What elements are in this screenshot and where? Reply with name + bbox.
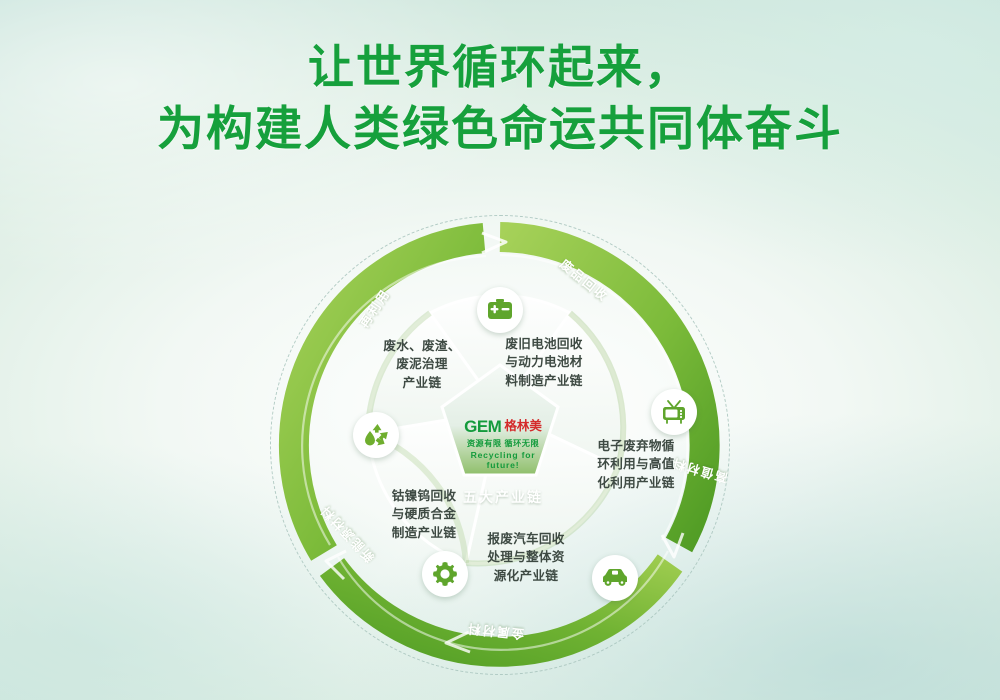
car-icon-badge [592, 555, 638, 601]
logo-slogan-cn: 资源有限 循环无限 [454, 437, 552, 449]
page-title: 让世界循环起来， 为构建人类绿色命运共同体奋斗 [0, 38, 1000, 159]
logo-primary-line: GEM 格林美 [454, 418, 552, 435]
recycle-drop-icon [362, 422, 390, 448]
logo-slogan-en: Recycling for future! [454, 450, 552, 470]
car-icon [601, 568, 629, 588]
battery-icon-badge [477, 287, 523, 333]
segment-text-electronic-waste: 电子废弃物循 环利用与高值 化利用产业链 [588, 437, 684, 492]
circular-diagram: 废品回收 再利用 高值材料 金属材料 新能源材料 废旧电池回收 与动力电池材 料… [270, 215, 730, 675]
headline-line-1: 让世界循环起来， [0, 38, 1000, 98]
tv-icon-badge [651, 389, 697, 435]
segment-text-scrapped-vehicle: 报废汽车回收 处理与整体资 源化产业链 [476, 530, 576, 585]
gear-icon [432, 561, 458, 587]
recycle-drop-icon-badge [353, 412, 399, 458]
gear-icon-badge [422, 551, 468, 597]
tv-icon [661, 399, 687, 425]
center-label: 五大产业链 [454, 487, 552, 507]
center-logo: GEM 格林美 资源有限 循环无限 Recycling for future! … [454, 418, 552, 507]
logo-brand-cn: 格林美 [504, 420, 542, 433]
segment-text-battery: 废旧电池回收 与动力电池材 料制造产业链 [492, 335, 596, 390]
segment-text-wastewater: 废水、废渣、 废泥治理 产业链 [370, 337, 474, 392]
battery-icon [487, 299, 513, 321]
headline-line-2: 为构建人类绿色命运共同体奋斗 [0, 98, 1000, 159]
logo-brand-latin: GEM [464, 418, 501, 435]
